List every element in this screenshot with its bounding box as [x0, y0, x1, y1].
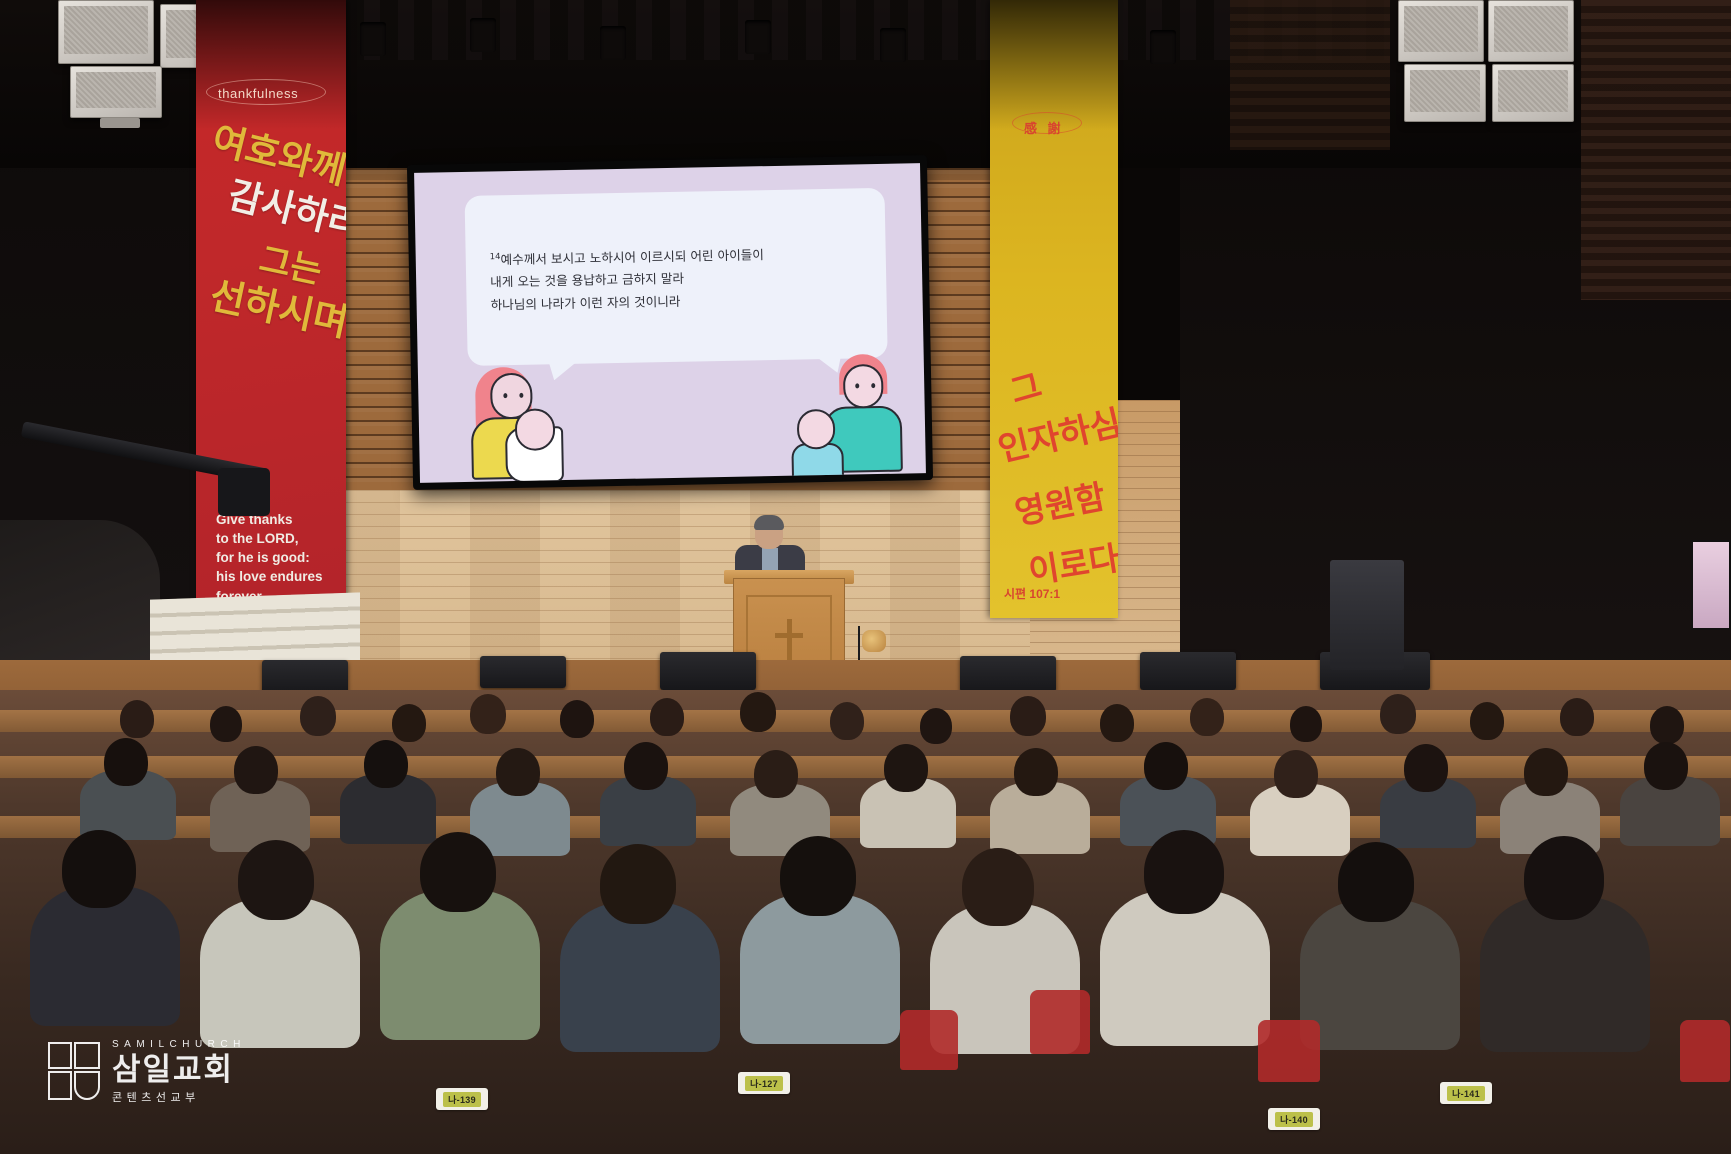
audience-head [238, 840, 314, 920]
banner-red: thankfulness 여호와께 감사하라 그는 선하시며 Give than… [196, 0, 346, 618]
audience-head [780, 836, 856, 916]
illustration-father-face [843, 364, 884, 409]
audience-head [560, 700, 594, 738]
projection-screen: 14예수께서 보시고 노하시어 이르시되 어린 아이들이 내게 오는 것을 용납… [407, 155, 933, 490]
seat-tag-label: 나-139 [443, 1092, 481, 1107]
speech-bubble-tail-right [812, 353, 842, 374]
broadcast-camera-icon [218, 468, 270, 516]
audience-torso [200, 898, 360, 1048]
audience-head [420, 832, 496, 912]
banner-shadow [990, 0, 1118, 130]
seat-back[interactable] [1030, 990, 1090, 1054]
audience-head [1010, 696, 1046, 736]
audience-head [650, 698, 684, 736]
banner-red-english: Give thanks to the LORD, for he is good:… [216, 510, 323, 606]
audience-head [884, 744, 928, 792]
seat-back[interactable] [1680, 1020, 1730, 1082]
audience-head [920, 708, 952, 744]
banner-yellow-line-3: 영원함 [1010, 470, 1109, 534]
ceiling-speaker [1398, 0, 1484, 62]
seat-tag-label: 나-140 [1275, 1112, 1313, 1127]
audience-torso [380, 890, 540, 1040]
speaker-grille-icon [1494, 6, 1568, 52]
stage-light-icon [470, 18, 496, 52]
eye-icon [855, 383, 859, 388]
audience-head [1644, 742, 1688, 790]
watermark-subtitle: 콘텐츠선교부 [112, 1092, 246, 1103]
audience-head [1470, 702, 1504, 740]
audience-head [392, 704, 426, 742]
audience-head [740, 692, 776, 732]
audience-head [1560, 698, 1594, 736]
verse-line-1: 예수께서 보시고 노하시어 이르시되 어린 아이들이 [500, 247, 764, 267]
speaker-grille-icon [1410, 70, 1480, 112]
banner-red-eyebrow: thankfulness [218, 86, 298, 101]
audience-head [1380, 694, 1416, 734]
seat-tag-label: 나-141 [1447, 1086, 1485, 1101]
wood-panel-upper-right [1230, 0, 1390, 150]
speaker-grille-icon [64, 6, 148, 54]
grand-piano [0, 520, 160, 670]
speaker-grille-icon [1498, 70, 1568, 112]
watermark-korean: 삼일교회 [112, 1055, 246, 1086]
ceiling-speaker [1488, 0, 1574, 62]
side-display-screen [1691, 540, 1731, 630]
audience-head [600, 844, 676, 924]
illustration-baby-head [515, 408, 556, 451]
audience-head [62, 830, 136, 908]
seat-tag: 나-127 [738, 1072, 790, 1094]
slide-surface: 14예수께서 보시고 노하시어 이르시되 어린 아이들이 내게 오는 것을 용납… [414, 163, 926, 483]
preacher-hair [754, 515, 784, 530]
cross-icon-bar [775, 633, 803, 638]
verse-number: 14 [490, 252, 501, 262]
speaker-mount [100, 118, 140, 128]
wood-panel-far-right [1581, 0, 1731, 300]
flower-arrangement [862, 630, 886, 652]
seat-back[interactable] [1258, 1020, 1320, 1082]
audience-head [364, 740, 408, 788]
floor-monitor [480, 656, 566, 688]
seat-back[interactable] [900, 1010, 958, 1070]
audience-head [1190, 698, 1224, 736]
audience-head [470, 694, 506, 734]
eye-icon [871, 383, 875, 388]
eye-icon [519, 393, 523, 398]
illustration-baby2-head [797, 409, 836, 450]
side-lectern [1330, 560, 1404, 670]
banner-yellow-reference: 시편 107:1 [1004, 585, 1060, 602]
audience-head [1290, 706, 1322, 742]
ceiling-speaker [58, 0, 154, 64]
audience-head [754, 750, 798, 798]
watermark-text: SAMILCHURCH 삼일교회 콘텐츠선교부 [112, 1040, 246, 1103]
verse-line-3: 하나님의 나라가 이런 자의 것이니라 [490, 294, 680, 313]
verse-line-2: 내게 오는 것을 용납하고 금하지 말라 [490, 271, 684, 290]
ceiling-speaker [1492, 64, 1574, 122]
audience-head [104, 738, 148, 786]
banner-red-line-4: 선하시며 [206, 264, 346, 347]
speech-bubble-tail-left [548, 358, 582, 381]
samil-church-mark-icon [48, 1042, 100, 1102]
seat-tag-label: 나-127 [745, 1076, 783, 1091]
audience-head [1144, 742, 1188, 790]
stage-light-icon [360, 22, 386, 56]
cross-icon [787, 619, 792, 661]
ceiling-speaker [1404, 64, 1486, 122]
banner-yellow-line-2: 인자하심이 [992, 388, 1118, 471]
seat-tag: 나-141 [1440, 1082, 1492, 1104]
audience-head [496, 748, 540, 796]
floor-monitor [660, 652, 756, 690]
audience-torso [560, 902, 720, 1052]
audience-head [300, 696, 336, 736]
seat-tag: 나-139 [436, 1088, 488, 1110]
audience-head [120, 700, 154, 738]
audience-torso [740, 894, 900, 1044]
banner-yellow-eyebrow: 感 謝 [1024, 118, 1064, 137]
banner-yellow: 感 謝 그 인자하심이 영원함 이로다 시편 107:1 [990, 0, 1118, 618]
speaker-grille-icon [1404, 6, 1478, 52]
audience-head [830, 702, 864, 740]
auditorium-scene: thankfulness 여호와께 감사하라 그는 선하시며 Give than… [0, 0, 1731, 1154]
audience-head [1524, 836, 1604, 920]
watermark-english: SAMILCHURCH [112, 1040, 246, 1050]
banner-yellow-line-1: 그 [1004, 359, 1046, 414]
audience-head [1100, 704, 1134, 742]
floor-monitor [262, 660, 348, 694]
audience-area: 나-127 나-140 나-141 나-139 [0, 690, 1731, 1154]
stage-light-icon [880, 28, 906, 62]
banner-shadow [196, 0, 346, 130]
slide-verse-text: 14예수께서 보시고 노하시어 이르시되 어린 아이들이 내게 오는 것을 용납… [490, 242, 871, 317]
audience-head [1144, 830, 1224, 914]
audience-head [210, 706, 242, 742]
audience-head [1014, 748, 1058, 796]
stage-light-icon [745, 20, 771, 54]
stage-light-icon [600, 26, 626, 60]
eye-icon [503, 393, 507, 398]
speaker-grille-icon [76, 72, 156, 108]
audience-torso [1300, 900, 1460, 1050]
audience-head [1524, 748, 1568, 796]
audience-head [234, 746, 278, 794]
audience-head [1338, 842, 1414, 922]
audience-head [1650, 706, 1684, 744]
seat-tag: 나-140 [1268, 1108, 1320, 1130]
audience-head [624, 742, 668, 790]
audience-head [1274, 750, 1318, 798]
watermark-logo: SAMILCHURCH 삼일교회 콘텐츠선교부 [48, 1040, 246, 1103]
floor-monitor [1140, 652, 1236, 690]
banner-yellow-line-4: 이로다 [1025, 531, 1118, 593]
audience-head [962, 848, 1034, 926]
audience-head [1404, 744, 1448, 792]
stage-light-icon [1150, 30, 1176, 64]
ceiling-speaker [70, 66, 162, 118]
floor-monitor [960, 656, 1056, 692]
